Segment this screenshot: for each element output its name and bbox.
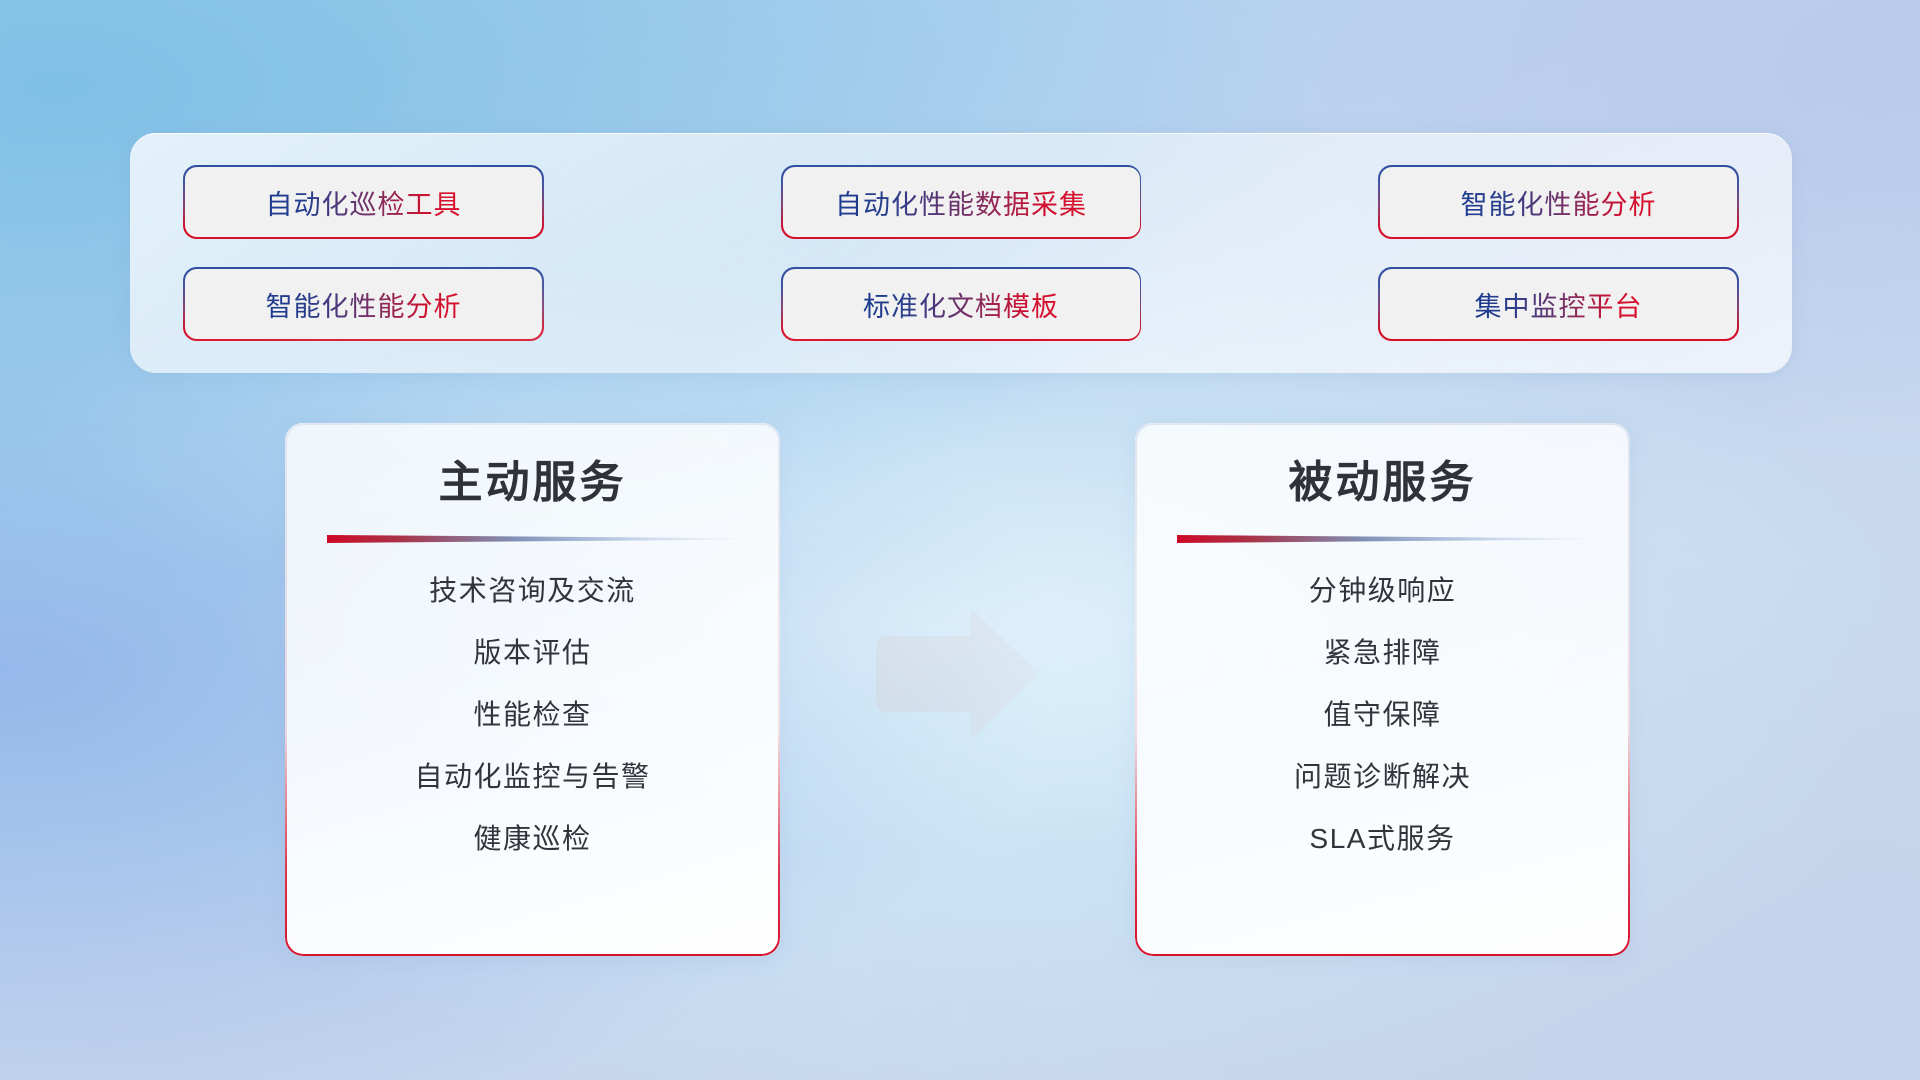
card-body: 被动服务 分钟级响应 xyxy=(1135,423,1630,956)
service-list-item: SLA式服务 xyxy=(1310,818,1456,860)
card-divider xyxy=(327,534,738,544)
service-item-list: 技术咨询及交流 版本评估 性能检查 自动化监控与告警 健康巡检 xyxy=(321,570,744,860)
capability-pill-standard-doc-template[interactable]: 标准化文档模板 xyxy=(783,269,1140,339)
capability-pill-label: 智能化性能分析 xyxy=(1461,183,1657,222)
capability-panel: 自动化巡检工具 自动化性能数据采集 智能化性能分析 智能化性能分析 标准化文档模… xyxy=(130,133,1792,373)
service-list-item: 紧急排障 xyxy=(1323,632,1441,674)
card-body: 主动服务 技术咨询及交流 xyxy=(285,423,780,956)
capability-pill-auto-perf-data-collection[interactable]: 自动化性能数据采集 xyxy=(783,167,1140,237)
service-card-proactive: 主动服务 技术咨询及交流 xyxy=(285,423,780,956)
service-list-item: 性能检查 xyxy=(473,694,591,736)
service-list-item: 自动化监控与告警 xyxy=(414,756,650,798)
arrow-right-icon xyxy=(872,612,1040,737)
service-list-item: 健康巡检 xyxy=(473,818,591,860)
service-list-item: 值守保障 xyxy=(1323,694,1441,736)
capability-pill-central-monitoring-platform[interactable]: 集中监控平台 xyxy=(1380,269,1737,339)
service-list-item: 版本评估 xyxy=(473,632,591,674)
service-list-item: 分钟级响应 xyxy=(1309,570,1457,612)
capability-pill-auto-inspection-tool[interactable]: 自动化巡检工具 xyxy=(185,167,542,237)
capability-pill-label: 自动化性能数据采集 xyxy=(835,183,1087,222)
capability-pill-intelligent-perf-analysis-2[interactable]: 智能化性能分析 xyxy=(185,269,542,339)
service-item-list: 分钟级响应 紧急排障 值守保障 问题诊断解决 SLA式服务 xyxy=(1171,570,1594,860)
capability-row-2: 智能化性能分析 标准化文档模板 集中监控平台 xyxy=(185,269,1737,339)
card-divider xyxy=(1177,534,1588,544)
card-title: 被动服务 xyxy=(1171,457,1594,510)
capability-pill-label: 标准化文档模板 xyxy=(863,285,1059,324)
capability-row-1: 自动化巡检工具 自动化性能数据采集 智能化性能分析 xyxy=(185,167,1737,237)
service-list-item: 问题诊断解决 xyxy=(1294,756,1471,798)
capability-pill-intelligent-perf-analysis[interactable]: 智能化性能分析 xyxy=(1380,167,1737,237)
capability-pill-label: 智能化性能分析 xyxy=(266,285,462,324)
capability-pill-label: 自动化巡检工具 xyxy=(266,183,462,222)
capability-pill-label: 集中监控平台 xyxy=(1475,285,1643,324)
service-card-reactive: 被动服务 分钟级响应 xyxy=(1135,423,1630,956)
service-list-item: 技术咨询及交流 xyxy=(429,570,636,612)
slide-canvas: 自动化巡检工具 自动化性能数据采集 智能化性能分析 智能化性能分析 标准化文档模… xyxy=(0,0,1920,1080)
card-title: 主动服务 xyxy=(321,457,744,510)
